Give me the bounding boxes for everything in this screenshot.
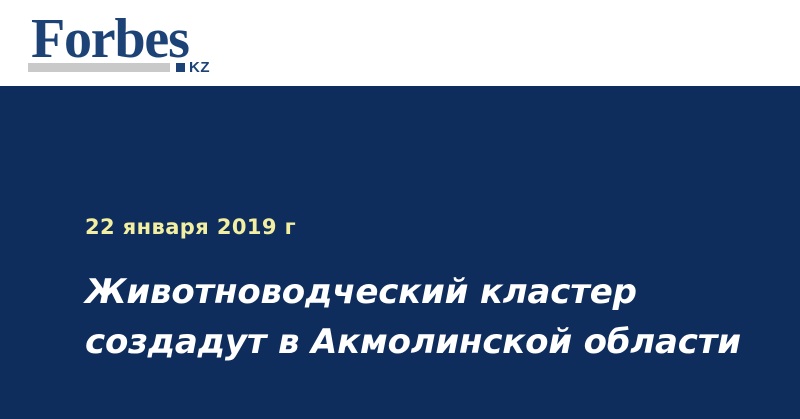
headline-line-2: создадут в Акмолинской области <box>85 317 745 367</box>
kz-suffix-label: KZ <box>189 60 210 75</box>
blue-square-icon <box>176 63 185 72</box>
forbes-wordmark: Forbes <box>31 11 189 67</box>
gray-rule-icon <box>28 63 170 72</box>
page-title: Животноводческий кластер создадут в Акмо… <box>85 267 745 367</box>
masthead: Forbes KZ <box>0 0 800 86</box>
hero-panel: 22 января 2019 г Животноводческий класте… <box>0 86 800 419</box>
forbes-kz-logo[interactable]: Forbes KZ <box>28 13 238 75</box>
publish-date: 22 января 2019 г <box>85 214 296 240</box>
headline-line-1: Животноводческий кластер <box>85 267 745 317</box>
article-hero-card: Forbes KZ 22 января 2019 г Животноводчес… <box>0 0 800 419</box>
